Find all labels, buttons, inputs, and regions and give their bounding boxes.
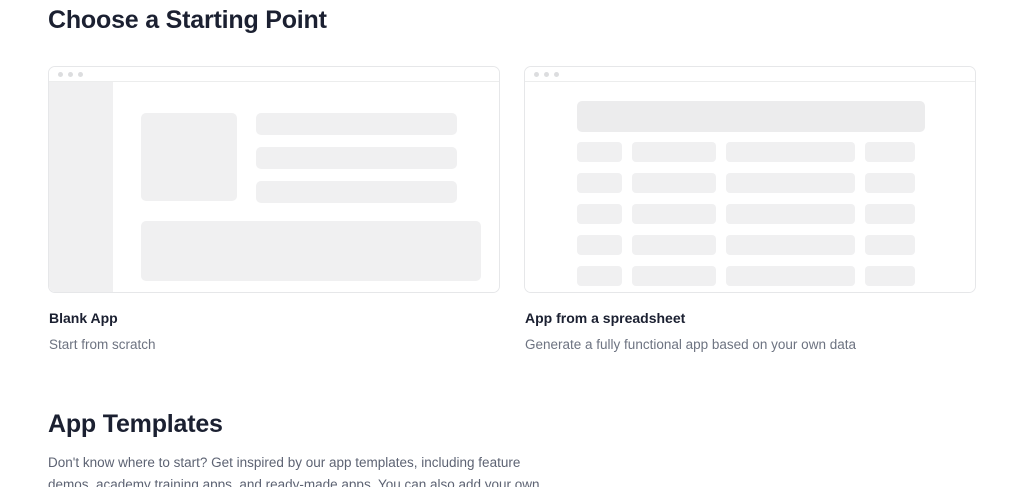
placeholder-table-row [577,173,925,193]
card-title-blank-app: Blank App [49,308,118,328]
window-dot-maximize-icon [554,72,559,77]
placeholder-table-cell [577,266,622,286]
placeholder-table-cell [632,266,716,286]
spreadsheet-app-preview[interactable] [524,66,976,293]
placeholder-table-cell [726,235,855,255]
placeholder-table-cell [577,204,622,224]
window-dot-maximize-icon [78,72,83,77]
page-title: Choose a Starting Point [48,4,327,36]
placeholder-table-cell [577,173,622,193]
placeholder-table-cell [632,235,716,255]
placeholder-table-cell [577,142,622,162]
placeholder-field-row [256,147,457,169]
blank-app-preview[interactable] [48,66,500,293]
placeholder-table-cell [632,142,716,162]
mock-window-titlebar [49,67,499,82]
placeholder-table-cell [726,266,855,286]
placeholder-table-cell [865,235,915,255]
card-blank-app[interactable]: Blank App Start from scratch [48,66,500,293]
card-subtitle-blank-app: Start from scratch [49,335,156,355]
placeholder-table-cell [865,204,915,224]
card-app-from-spreadsheet[interactable]: App from a spreadsheet Generate a fully … [524,66,976,293]
app-templates-heading: App Templates [48,408,223,440]
mock-window-titlebar [525,67,975,82]
window-dot-close-icon [534,72,539,77]
placeholder-table-cell [632,173,716,193]
mock-window-body [525,82,975,292]
placeholder-table-row [577,204,925,224]
placeholder-table-cell [726,142,855,162]
card-title-app-from-spreadsheet: App from a spreadsheet [525,308,685,328]
starting-point-page: Choose a Starting Point Bla [0,0,1024,487]
window-dot-minimize-icon [544,72,549,77]
placeholder-table-header [577,101,925,132]
window-dot-close-icon [58,72,63,77]
placeholder-image-block [141,113,237,201]
placeholder-table-cell [865,173,915,193]
placeholder-table-cell [726,173,855,193]
placeholder-table-cell [865,142,915,162]
placeholder-wide-block [141,221,481,281]
window-dot-minimize-icon [68,72,73,77]
mock-window-body [49,82,499,292]
placeholder-table-cell [577,235,622,255]
placeholder-table-cell [632,204,716,224]
placeholder-table-row [577,235,925,255]
starting-point-card-list: Blank App Start from scratch App from a … [48,66,976,356]
app-templates-description: Don't know where to start? Get inspired … [48,452,553,487]
placeholder-table-rows [577,142,925,293]
placeholder-table-row [577,266,925,286]
placeholder-field-row [256,181,457,203]
placeholder-table-cell [726,204,855,224]
placeholder-table-cell [865,266,915,286]
card-subtitle-app-from-spreadsheet: Generate a fully functional app based on… [525,335,856,355]
mock-sidebar [49,82,113,292]
placeholder-field-row [256,113,457,135]
placeholder-table-row [577,142,925,162]
